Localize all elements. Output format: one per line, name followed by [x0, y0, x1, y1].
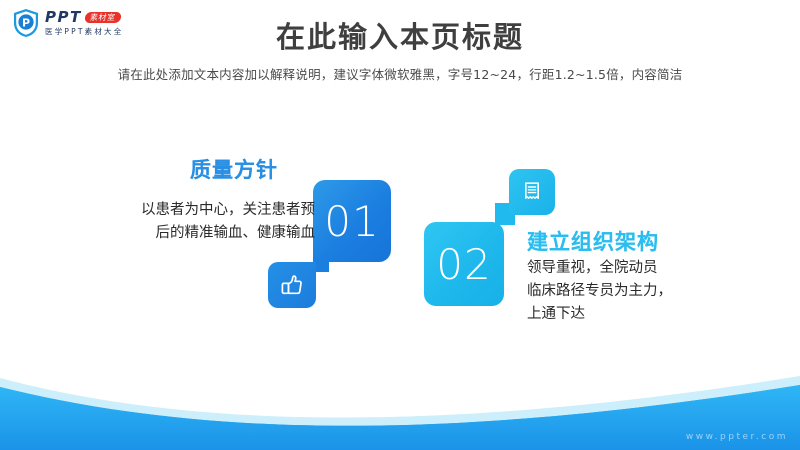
block2-number: 02	[436, 240, 491, 289]
block2-body: 领导重视，全院动员 临床路径专员为主力， 上通下达	[527, 257, 757, 326]
block2-number-box: 02	[424, 222, 504, 306]
block1-body: 以患者为中心，关注患者预 后的精准输血、健康输血	[93, 199, 315, 245]
thumbs-up-icon	[268, 262, 316, 308]
block2-heading: 建立组织架构	[527, 226, 659, 256]
footer-wave-decoration	[0, 340, 800, 450]
document-icon	[509, 169, 555, 215]
page-subtitle: 请在此处添加文本内容加以解释说明，建议字体微软雅黑，字号12~24，行距1.2~…	[0, 64, 800, 83]
page-title: 在此输入本页标题	[0, 14, 800, 56]
watermark: www.ppter.com	[686, 432, 788, 442]
slide-canvas: P PPT 素材室 医学PPT素材大全 在此输入本页标题 请在此处添加文本内容加…	[0, 0, 800, 450]
block1-number-box: 01	[313, 180, 391, 262]
block1-heading: 质量方针	[190, 154, 278, 184]
block1-number: 01	[324, 197, 379, 246]
